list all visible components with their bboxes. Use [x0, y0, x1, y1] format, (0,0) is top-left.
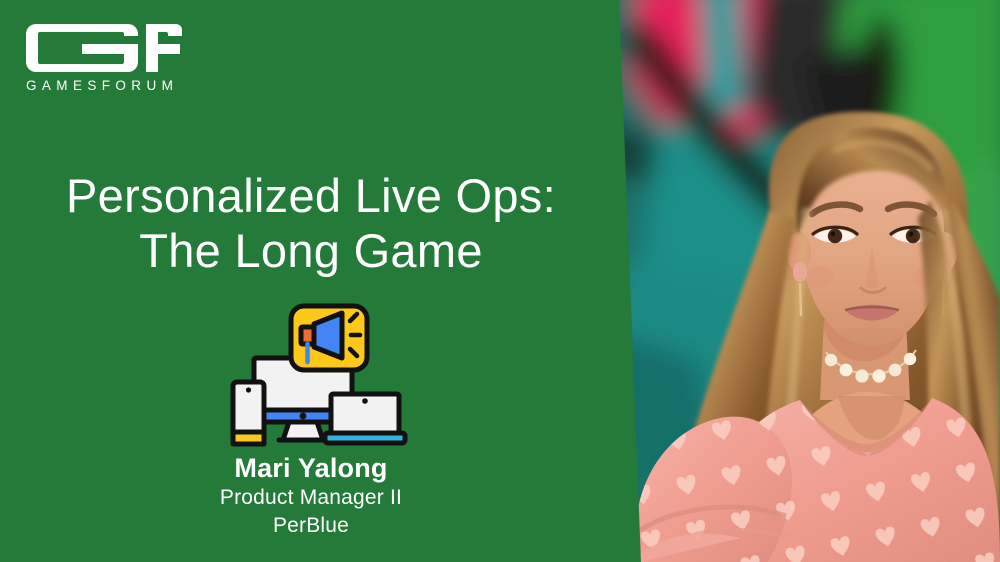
speaker-name: Mari Yalong: [0, 452, 622, 484]
gamesforum-gf-monogram-icon: [24, 22, 184, 74]
brand-logo[interactable]: GAMESFORUM: [24, 22, 204, 93]
speaker-info: Mari Yalong Product Manager II PerBlue: [0, 452, 622, 540]
session-title-line-1: Personalized Live Ops:: [0, 168, 622, 223]
presentation-slide: GAMESFORUM Personalized Live Ops: The Lo…: [0, 0, 1000, 562]
devices-illustration-artwork: [221, 300, 421, 450]
speaker-company: PerBlue: [0, 512, 622, 540]
session-title-line-2: The Long Game: [0, 223, 622, 278]
speaker-role: Product Manager II: [0, 484, 622, 512]
megaphone-badge-icon: [291, 306, 367, 370]
laptop-icon: [325, 394, 405, 443]
live-ops-devices-megaphone-illustration: [221, 300, 421, 450]
session-title: Personalized Live Ops: The Long Game: [0, 168, 622, 279]
brand-wordmark: GAMESFORUM: [24, 79, 204, 93]
smartphone-icon: [233, 382, 264, 444]
